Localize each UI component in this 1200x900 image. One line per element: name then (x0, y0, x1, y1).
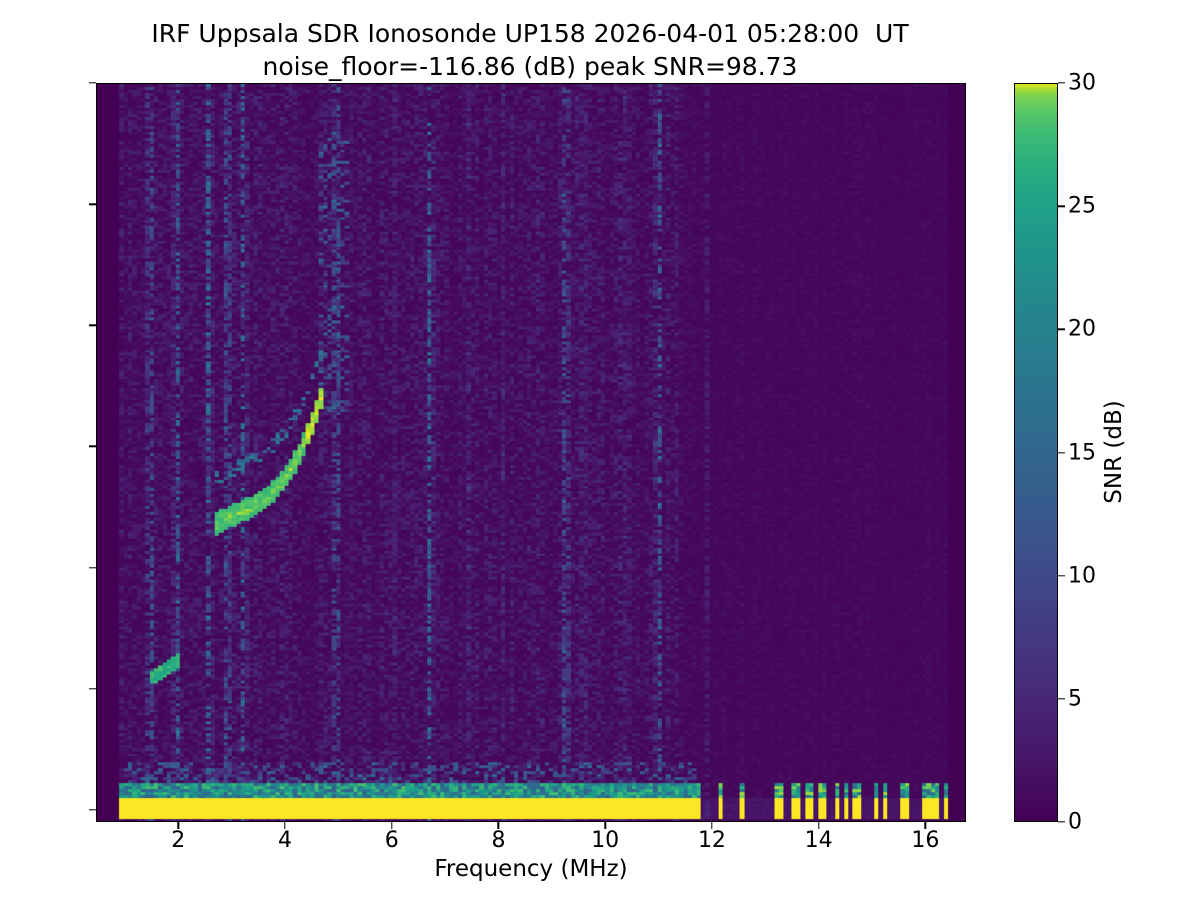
ionogram-heatmap (97, 84, 965, 821)
x-axis-tick-label: 10 (591, 828, 619, 853)
colorbar-tick-label: 5 (1068, 686, 1082, 711)
x-axis-tick-mark (391, 822, 392, 829)
x-axis-tick-mark (177, 822, 178, 829)
colorbar-tick-mark (1058, 329, 1065, 330)
x-axis-tick-label: 6 (385, 828, 399, 853)
x-axis-tick-mark (925, 822, 926, 829)
colorbar-gradient (1014, 83, 1058, 822)
ionogram-plot-area (96, 83, 966, 822)
colorbar-tick-mark (1058, 575, 1065, 576)
colorbar-tick-label: 0 (1068, 810, 1082, 835)
colorbar-tick-mark (1058, 821, 1065, 822)
x-axis-tick-mark (818, 822, 819, 829)
colorbar-tick-label: 20 (1068, 317, 1096, 342)
colorbar-tick-mark (1058, 205, 1065, 206)
title-line-1: IRF Uppsala SDR Ionosonde UP158 2026-04-… (0, 18, 1060, 51)
x-axis-tick-mark (604, 822, 605, 829)
y-axis-tick-mark (89, 82, 96, 83)
y-axis-tick-mark (89, 325, 96, 326)
y-axis-tick-mark (89, 203, 96, 204)
x-axis-label: Frequency (MHz) (434, 856, 627, 882)
y-axis-tick-mark (89, 809, 96, 810)
x-axis-tick-label: 16 (911, 828, 939, 853)
ionogram-figure: IRF Uppsala SDR Ionosonde UP158 2026-04-… (0, 0, 1200, 900)
colorbar-tick-mark (1058, 452, 1065, 453)
colorbar-tick-mark (1058, 698, 1065, 699)
x-axis-tick-label: 14 (805, 828, 833, 853)
x-axis-tick-mark (498, 822, 499, 829)
title-line-2: noise_floor=-116.86 (dB) peak SNR=98.73 (0, 51, 1060, 84)
x-axis-tick-label: 8 (491, 828, 505, 853)
x-axis-tick-label: 2 (171, 828, 185, 853)
colorbar-label: SNR (dB) (1101, 400, 1127, 503)
y-axis-tick-mark (89, 446, 96, 447)
x-axis-tick-label: 12 (698, 828, 726, 853)
x-axis-tick-label: 4 (278, 828, 292, 853)
x-axis-tick-mark (284, 822, 285, 829)
x-axis-tick-mark (711, 822, 712, 829)
colorbar-tick-mark (1058, 82, 1065, 83)
y-axis-tick-mark (89, 567, 96, 568)
figure-title: IRF Uppsala SDR Ionosonde UP158 2026-04-… (0, 18, 1060, 83)
colorbar-tick-label: 15 (1068, 440, 1096, 465)
colorbar-tick-label: 30 (1068, 71, 1096, 96)
y-axis-tick-mark (89, 688, 96, 689)
colorbar-tick-label: 25 (1068, 194, 1096, 219)
colorbar-tick-label: 10 (1068, 563, 1096, 588)
